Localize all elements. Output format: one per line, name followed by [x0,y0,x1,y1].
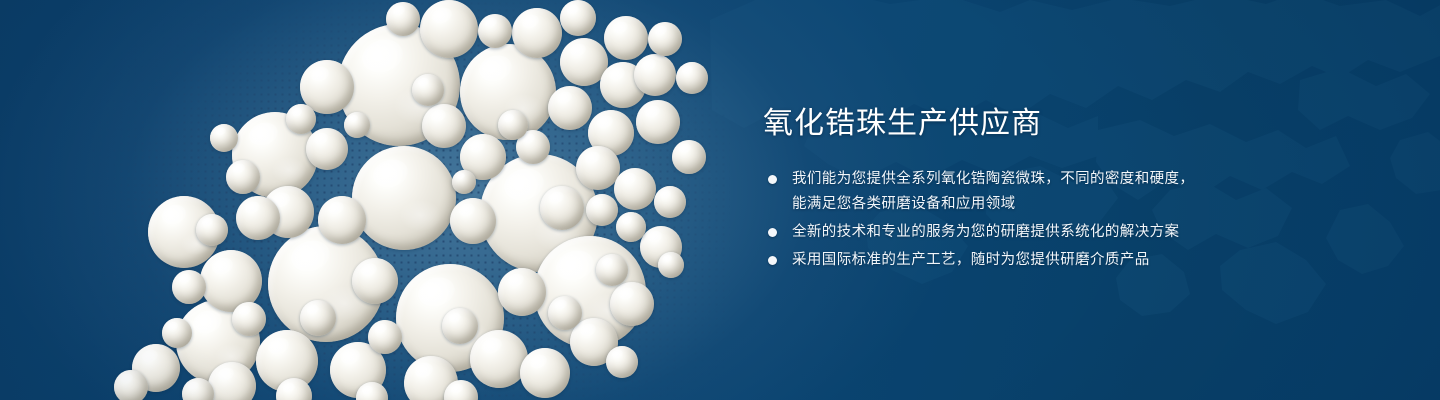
bullet-dot-icon [768,256,777,265]
list-item: 我们能为您提供全系列氧化锆陶瓷微珠，不同的密度和硬度， 能满足您各类研磨设备和应… [763,167,1233,217]
list-item: 采用国际标准的生产工艺，随时为您提供研磨介质产品 [763,248,1233,273]
list-item-line: 能满足您各类研磨设备和应用领域 [792,192,1233,217]
hero-banner: 氧化锆珠生产供应商 我们能为您提供全系列氧化锆陶瓷微珠，不同的密度和硬度， 能满… [0,0,1440,400]
bullet-dot-icon [768,175,777,184]
banner-copy: 氧化锆珠生产供应商 我们能为您提供全系列氧化锆陶瓷微珠，不同的密度和硬度， 能满… [763,106,1233,276]
list-item-line: 全新的技术和专业的服务为您的研磨提供系统化的解决方案 [792,220,1233,245]
list-item: 全新的技术和专业的服务为您的研磨提供系统化的解决方案 [763,220,1233,245]
feature-list: 我们能为您提供全系列氧化锆陶瓷微珠，不同的密度和硬度， 能满足您各类研磨设备和应… [763,167,1233,273]
list-item-line: 采用国际标准的生产工艺，随时为您提供研磨介质产品 [792,248,1233,273]
page-title: 氧化锆珠生产供应商 [763,106,1233,141]
bullet-dot-icon [768,228,777,237]
list-item-line: 我们能为您提供全系列氧化锆陶瓷微珠，不同的密度和硬度， [792,167,1233,192]
